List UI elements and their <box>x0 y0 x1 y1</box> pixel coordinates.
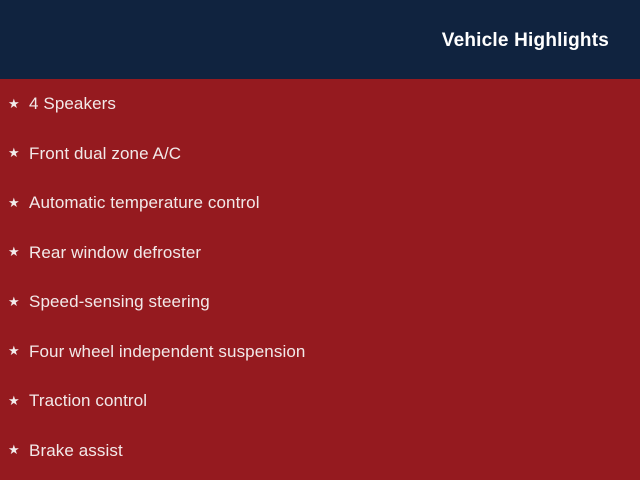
list-item: ★ Rear window defroster <box>0 228 640 278</box>
list-item-label: Brake assist <box>29 442 123 459</box>
list-item: ★ Traction control <box>0 376 640 426</box>
list-item: ★ 4 Speakers <box>0 79 640 129</box>
star-bullet-icon: ★ <box>8 97 29 110</box>
list-item: ★ Automatic temperature control <box>0 178 640 228</box>
star-bullet-icon: ★ <box>8 295 29 308</box>
star-bullet-icon: ★ <box>8 146 29 159</box>
star-bullet-icon: ★ <box>8 394 29 407</box>
star-bullet-icon: ★ <box>8 344 29 357</box>
star-bullet-icon: ★ <box>8 443 29 456</box>
star-bullet-icon: ★ <box>8 196 29 209</box>
vehicle-highlights-slide: Vehicle Highlights ★ 4 Speakers ★ Front … <box>0 0 640 480</box>
list-item-label: Traction control <box>29 392 147 409</box>
slide-body-panel: ★ 4 Speakers ★ Front dual zone A/C ★ Aut… <box>0 79 640 480</box>
page-title: Vehicle Highlights <box>442 31 609 50</box>
list-item-label: 4 Speakers <box>29 95 116 112</box>
list-item-label: Automatic temperature control <box>29 194 260 211</box>
list-item: ★ Speed-sensing steering <box>0 277 640 327</box>
list-item-label: Rear window defroster <box>29 244 201 261</box>
list-item-label: Four wheel independent suspension <box>29 343 305 360</box>
list-item: ★ Front dual zone A/C <box>0 129 640 179</box>
list-item: ★ Brake assist <box>0 426 640 476</box>
vehicle-highlights-list: ★ 4 Speakers ★ Front dual zone A/C ★ Aut… <box>0 79 640 475</box>
list-item-label: Front dual zone A/C <box>29 145 181 162</box>
slide-header-band: Vehicle Highlights <box>0 0 640 79</box>
star-bullet-icon: ★ <box>8 245 29 258</box>
list-item-label: Speed-sensing steering <box>29 293 210 310</box>
list-item: ★ Four wheel independent suspension <box>0 327 640 377</box>
